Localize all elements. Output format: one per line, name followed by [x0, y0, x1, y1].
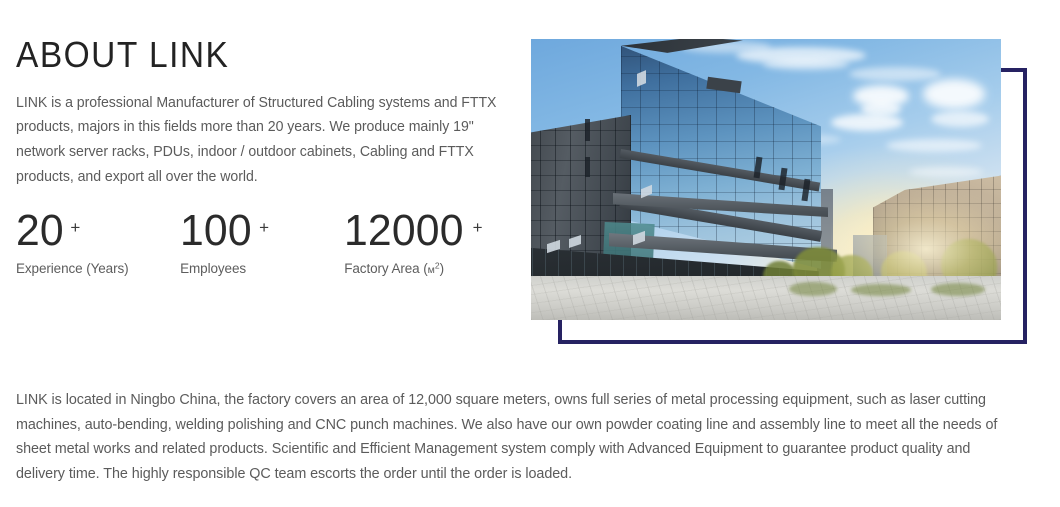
stat-value-row: 12000 +: [344, 208, 516, 254]
shrub: [789, 282, 837, 296]
paved-foreground: [531, 276, 1001, 320]
stat-plus-sign: +: [473, 218, 483, 238]
stat-plus-sign: +: [70, 218, 80, 238]
stat-factory-area: 12000 + Factory Area (м2): [344, 208, 516, 276]
about-text-column: ABOUT LINK LINK is a professional Manufa…: [16, 36, 516, 189]
stat-number: 12000: [344, 208, 464, 254]
cloud: [831, 114, 903, 131]
shrub: [931, 283, 985, 296]
stat-number: 20: [16, 208, 64, 254]
stat-label: Experience (Years): [16, 261, 180, 276]
pavement-texture: [531, 276, 1001, 320]
stat-label-text: Factory Area (: [344, 261, 427, 276]
stat-label: Employees: [180, 261, 344, 276]
about-media: [531, 39, 1027, 344]
about-section: ABOUT LINK LINK is a professional Manufa…: [0, 0, 1060, 507]
stat-number: 100: [180, 208, 252, 254]
window-opening: [585, 157, 590, 177]
stat-experience: 20 + Experience (Years): [16, 208, 180, 276]
cloud: [909, 167, 983, 177]
intro-paragraph: LINK is a professional Manufacturer of S…: [16, 91, 504, 189]
cloud: [849, 67, 941, 81]
statistics-row: 20 + Experience (Years) 100 + Employees …: [16, 208, 516, 276]
stat-plus-sign: +: [259, 218, 269, 238]
window-opening: [585, 119, 590, 141]
cloud: [923, 79, 985, 109]
stat-unit-symbol: м: [428, 264, 435, 276]
factory-building-photo: [531, 39, 1001, 320]
stat-employees: 100 + Employees: [180, 208, 344, 276]
stat-label-close-paren: ): [440, 261, 444, 276]
cloud: [886, 139, 982, 152]
description-paragraph: LINK is located in Ningbo China, the fac…: [16, 388, 1016, 486]
stat-value-row: 100 +: [180, 208, 344, 254]
stat-label: Factory Area (м2): [344, 261, 516, 276]
page-title: ABOUT LINK: [16, 36, 481, 74]
stat-unit: м2: [428, 264, 440, 276]
cloud: [931, 111, 989, 127]
shrub: [851, 284, 911, 296]
stat-value-row: 20 +: [16, 208, 180, 254]
